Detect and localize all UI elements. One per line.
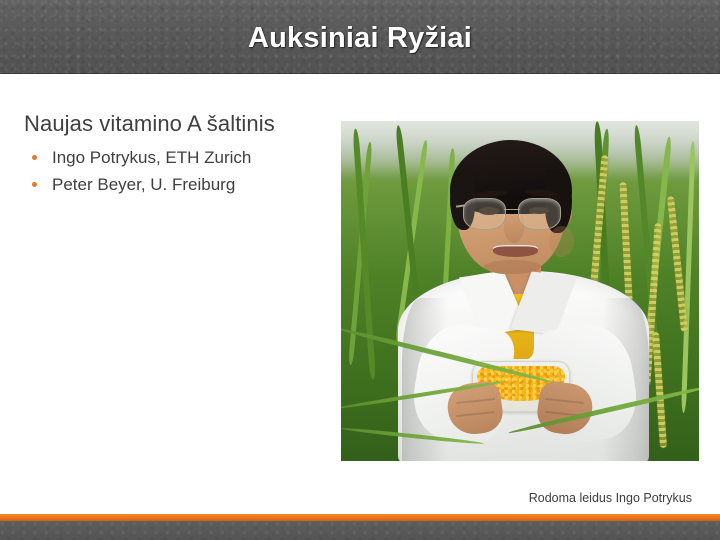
- body-heading: Naujas vitamino A šaltinis: [24, 110, 324, 138]
- slide: Auksiniai Ryžiai Naujas vitamino A šalti…: [0, 0, 720, 540]
- nose: [504, 213, 524, 244]
- footer-accent-bar: [0, 514, 720, 521]
- scientist-figure: [341, 121, 699, 461]
- lens-left: [463, 198, 506, 231]
- chin-shadow: [484, 260, 541, 274]
- bullet-list: Ingo Potrykus, ETH Zurich Peter Beyer, U…: [24, 144, 324, 198]
- image-credit-caption: Rodoma leidus Ingo Potrykus: [0, 491, 692, 506]
- list-item-label: Peter Beyer, U. Freiburg: [52, 175, 235, 194]
- mouth: [493, 245, 538, 257]
- slide-title: Auksiniai Ryžiai: [0, 22, 720, 54]
- bullet-dot-icon: [32, 182, 37, 187]
- slide-body: Naujas vitamino A šaltinis Ingo Potrykus…: [24, 110, 324, 198]
- list-item-label: Ingo Potrykus, ETH Zurich: [52, 148, 251, 167]
- photo-frame: [341, 121, 699, 461]
- bullet-dot-icon: [32, 155, 37, 160]
- list-item: Ingo Potrykus, ETH Zurich: [24, 144, 324, 171]
- cheek-highlight: [549, 226, 574, 257]
- golden-rice-photo: [341, 121, 699, 461]
- footer-bar: [0, 521, 720, 540]
- lens-right: [518, 198, 561, 231]
- list-item: Peter Beyer, U. Freiburg: [24, 171, 324, 198]
- glasses-bridge: [504, 209, 520, 211]
- slide-title-bar: Auksiniai Ryžiai: [0, 0, 720, 74]
